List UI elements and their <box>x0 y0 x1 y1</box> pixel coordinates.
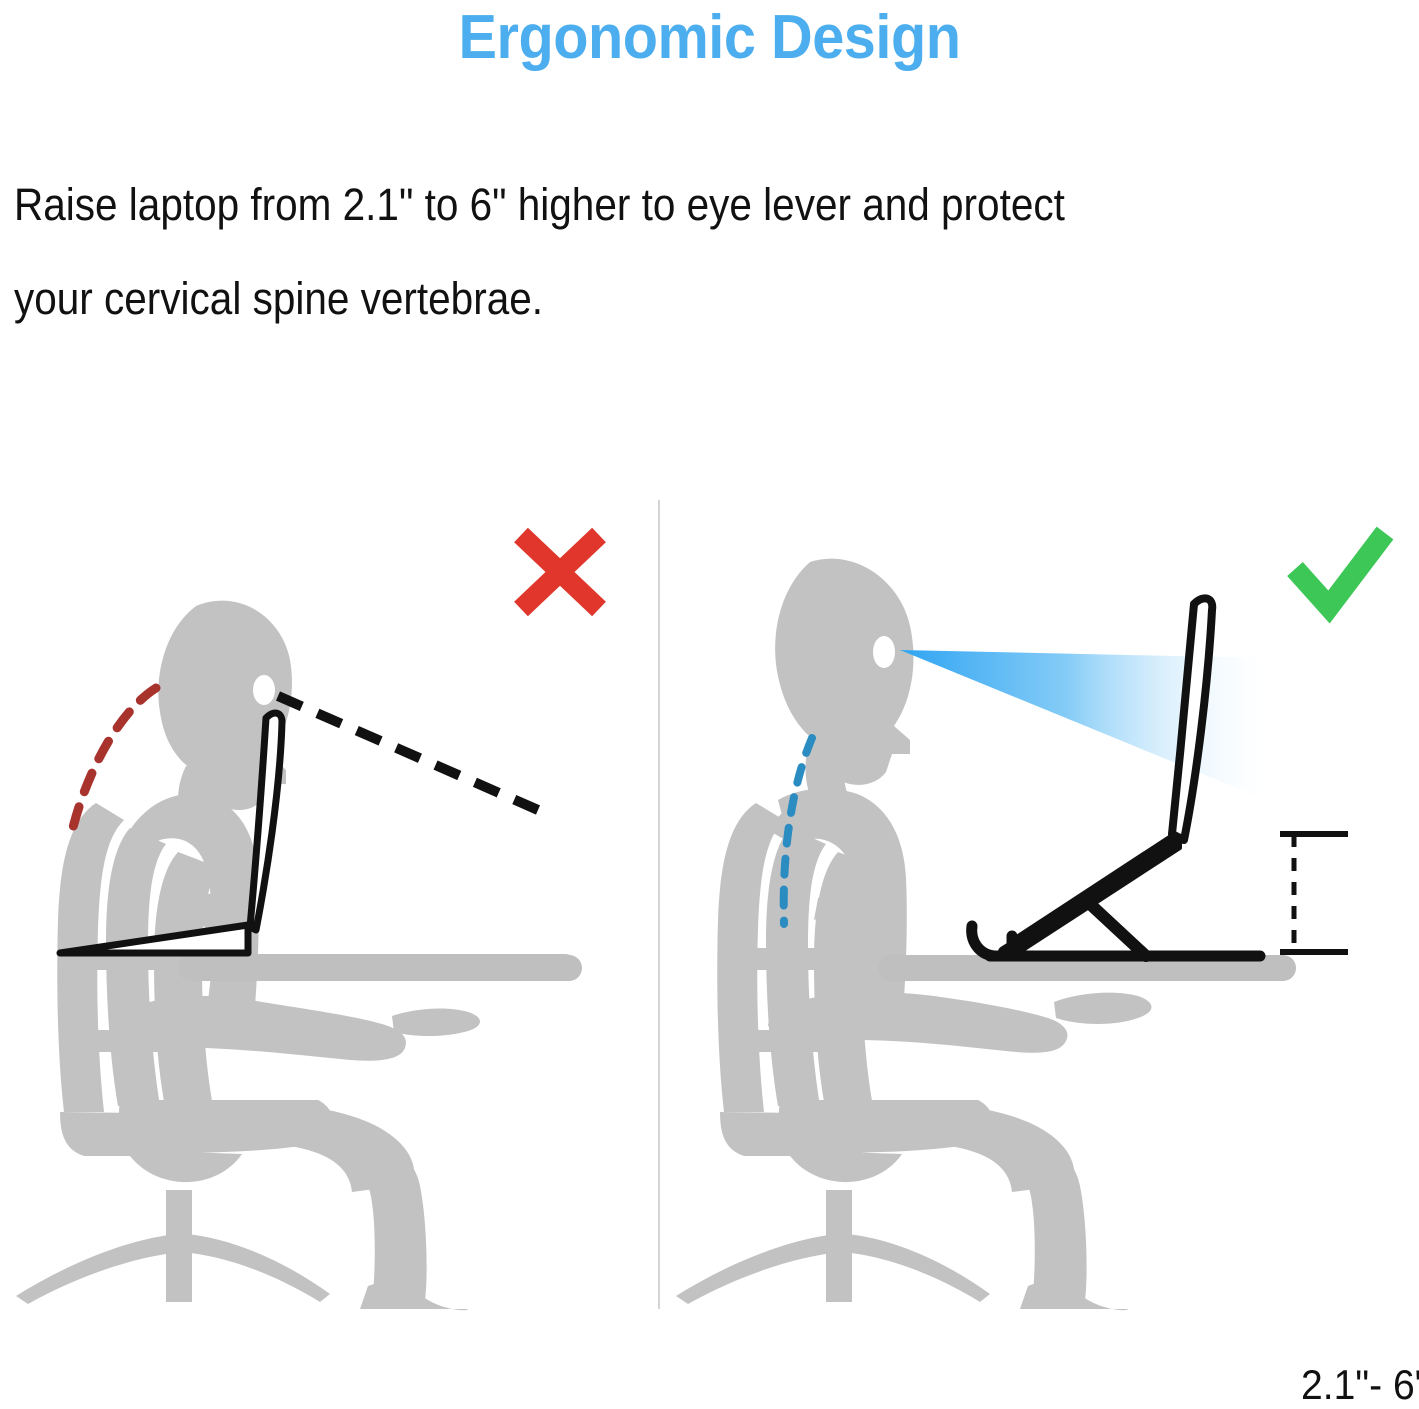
office-chair-right <box>676 803 993 1304</box>
page-title: Ergonomic Design <box>50 2 1370 73</box>
page-description: Raise laptop from 2.1" to 6" higher to e… <box>14 158 1265 346</box>
description-line-2: your cervical spine vertebrae. <box>14 252 1265 346</box>
correct-verdict-badge <box>1285 525 1395 620</box>
panel-correct-posture: 2.1"- 6" <box>660 500 1419 1309</box>
ergonomic-design-infographic: Ergonomic Design Raise laptop from 2.1" … <box>0 0 1419 1309</box>
panel-incorrect-posture <box>0 500 658 1309</box>
height-dimension-label: 2.1"- 6" <box>1301 1361 1419 1409</box>
cross-icon <box>505 525 615 620</box>
check-icon <box>1285 525 1395 620</box>
incorrect-verdict-badge <box>505 525 615 620</box>
height-dimension-indicator <box>1280 834 1348 952</box>
description-line-1: Raise laptop from 2.1" to 6" higher to e… <box>14 158 1265 252</box>
incorrect-posture-illustration <box>0 500 658 1309</box>
correct-posture-illustration <box>660 500 1419 1309</box>
sight-line-incorrect <box>278 696 538 810</box>
